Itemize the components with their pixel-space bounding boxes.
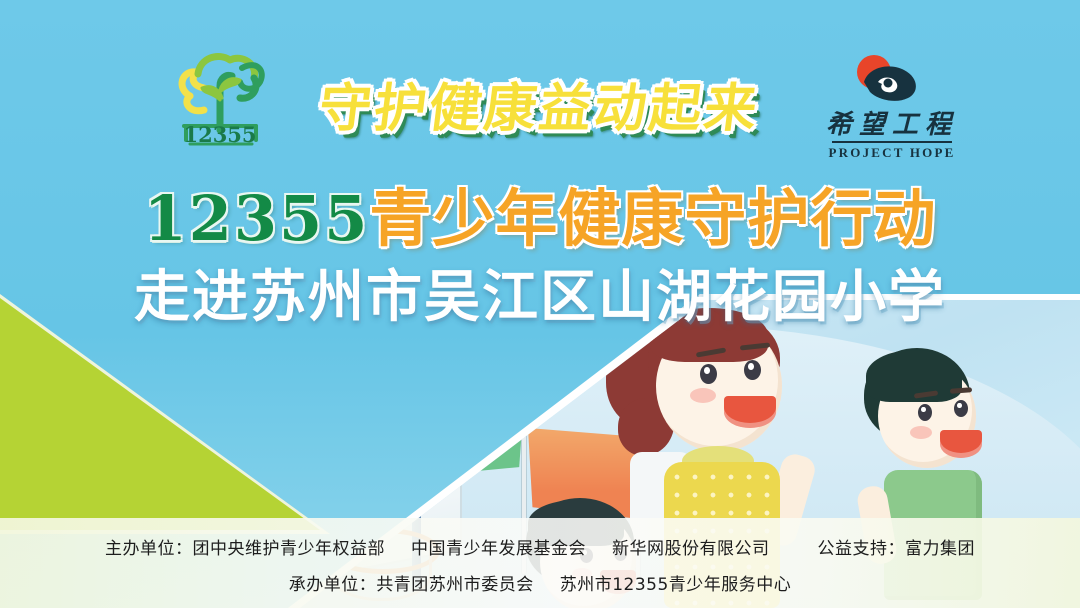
credits-organizer-label: 承办单位： (289, 575, 377, 595)
hope-divider (832, 141, 952, 143)
credits-host-org2: 中国青少年发展基金会 (411, 539, 586, 559)
hope-en-label: PROJECT HOPE (812, 145, 972, 161)
credits-band: 主办单位：团中央维护青少年权益部中国青少年发展基金会新华网股份有限公司公益支持：… (0, 518, 1080, 608)
credits-host-label: 主办单位： (105, 539, 193, 559)
slogan-text: 守护健康益动起来 (0, 66, 1080, 141)
credits-line-1: 主办单位：团中央维护青少年权益部中国青少年发展基金会新华网股份有限公司公益支持：… (0, 534, 1080, 559)
headline-number: 12355 (144, 182, 370, 255)
credits-host-org1: 团中央维护青少年权益部 (193, 539, 386, 559)
credits-organizer-org2: 苏州市12355青少年服务中心 (560, 575, 792, 595)
credits-organizer-org1: 共青团苏州市委员会 (376, 575, 534, 595)
poster-canvas: 12355 12355 希望工程 PROJECT HOPE 守护健康益动起来 1… (0, 0, 1080, 608)
headline-primary: 12355青少年健康守护行动 (0, 168, 1080, 258)
credits-support-org: 富力集团 (905, 539, 975, 559)
headline-subtitle: 走进苏州市吴江区山湖花园小学 (0, 252, 1080, 333)
credits-line-2: 承办单位：共青团苏州市委员会苏州市12355青少年服务中心 (0, 570, 1080, 595)
headline-chinese: 青少年健康守护行动 (369, 182, 936, 255)
credits-host-org3: 新华网股份有限公司 (612, 539, 770, 559)
credits-support-label: 公益支持： (818, 539, 906, 559)
